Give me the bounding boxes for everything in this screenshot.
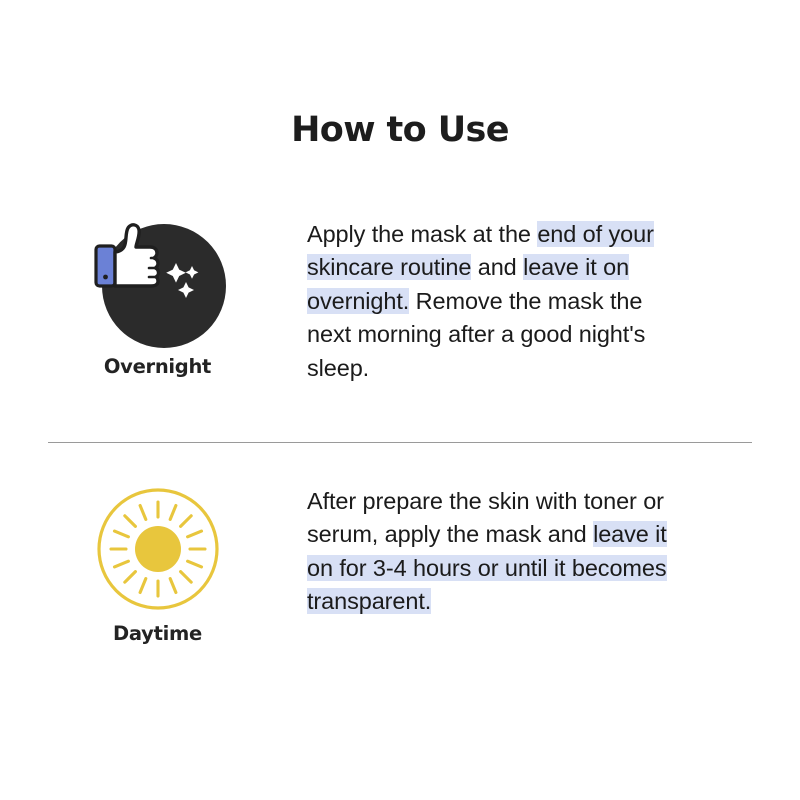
- overnight-body-text: Apply the mask at the end of your skinca…: [307, 218, 690, 385]
- page-title: How to Use: [0, 110, 800, 150]
- section-divider: [48, 442, 752, 443]
- section-daytime: Daytime After prepare the skin with tone…: [0, 483, 800, 645]
- text-run: and: [471, 254, 523, 280]
- overnight-text-column: Apply the mask at the end of your skinca…: [307, 216, 800, 385]
- daytime-text-column: After prepare the skin with toner or ser…: [307, 483, 800, 645]
- how-to-use-page: How to Use: [0, 0, 800, 800]
- overnight-icon-column: Overnight: [0, 216, 307, 385]
- text-run: Apply the mask at the: [307, 221, 537, 247]
- overnight-label: Overnight: [104, 355, 211, 378]
- daytime-icon-column: Daytime: [0, 483, 307, 645]
- daytime-body-text: After prepare the skin with toner or ser…: [307, 485, 690, 619]
- section-overnight: Overnight Apply the mask at the end of y…: [0, 216, 800, 385]
- sun-icon: [88, 483, 228, 616]
- daytime-label: Daytime: [113, 622, 202, 645]
- moon-stars-thumbsup-icon: [88, 216, 228, 349]
